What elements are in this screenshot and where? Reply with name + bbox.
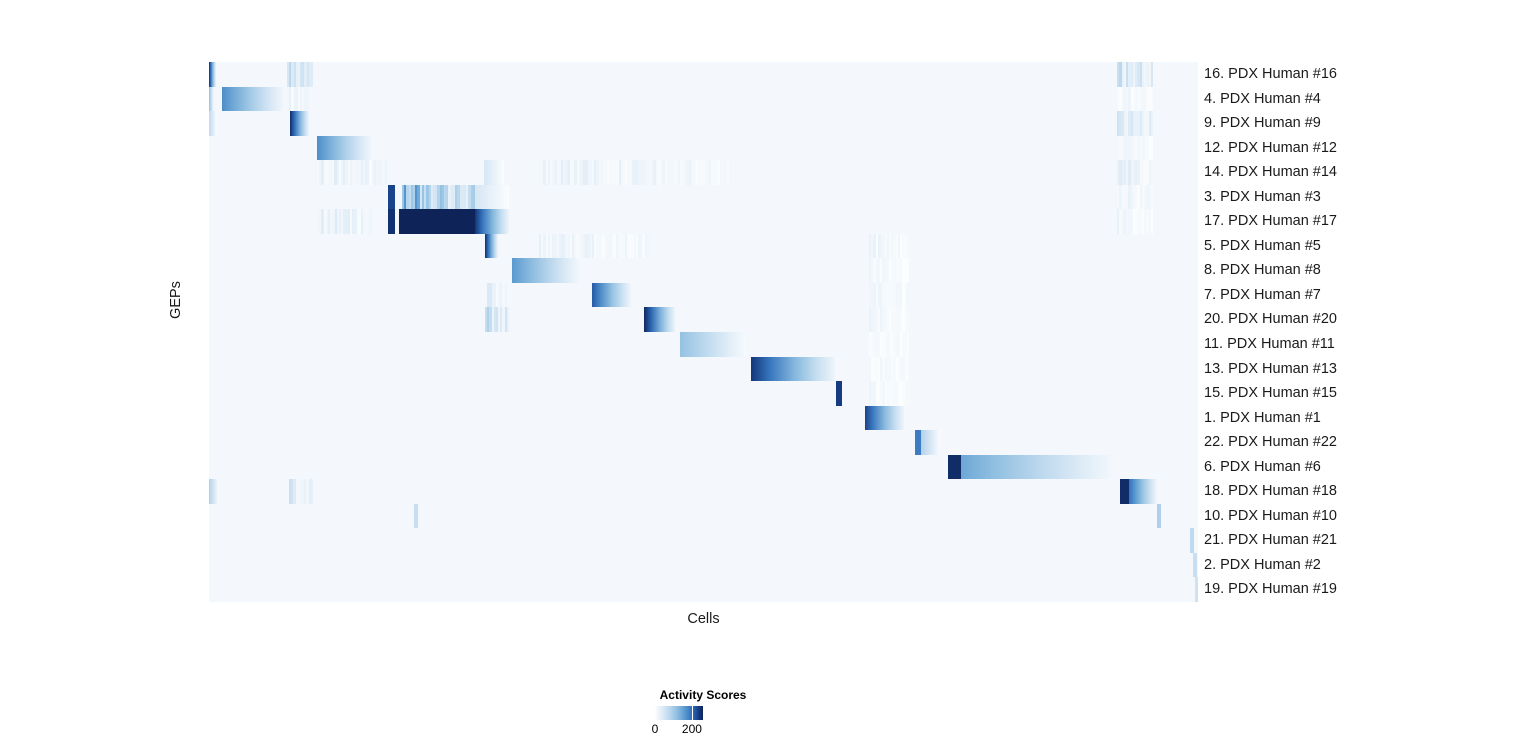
heatmap-cell (1151, 136, 1154, 161)
row-label: 8. PDX Human #8 (1204, 258, 1321, 283)
row-label: 14. PDX Human #14 (1204, 160, 1337, 185)
heatmap-cell (507, 307, 510, 332)
heatmap-row (209, 528, 1198, 553)
heatmap-row (209, 234, 1198, 259)
row-label: 15. PDX Human #15 (1204, 381, 1337, 406)
heatmap-cell (311, 479, 314, 504)
heatmap-row (209, 406, 1198, 431)
row-label: 16. PDX Human #16 (1204, 62, 1337, 87)
heatmap-cell (317, 136, 372, 161)
heatmap-row (209, 160, 1198, 185)
heatmap-row (209, 111, 1198, 136)
heatmap-cell (907, 307, 910, 332)
heatmap-cell (311, 62, 314, 87)
heatmap-cell (388, 209, 395, 234)
heatmap-row (209, 455, 1198, 480)
heatmap-cell (1151, 160, 1154, 185)
heatmap-cell (907, 357, 910, 382)
row-label: 4. PDX Human #4 (1204, 87, 1321, 112)
heatmap-row (209, 307, 1198, 332)
heatmap-row (209, 479, 1198, 504)
colorbar-tick (692, 706, 694, 720)
heatmap-cell (370, 209, 373, 234)
heatmap-cell (907, 332, 910, 357)
heatmap-row (209, 357, 1198, 382)
heatmap-cell (399, 209, 475, 234)
heatmap-row (209, 553, 1198, 578)
heatmap-cell (388, 185, 395, 210)
heatmap-row (209, 381, 1198, 406)
row-label: 20. PDX Human #20 (1204, 307, 1337, 332)
heatmap-cell (907, 234, 910, 259)
heatmap-cell (1151, 209, 1154, 234)
heatmap-cell (751, 357, 835, 382)
row-label: 19. PDX Human #19 (1204, 577, 1337, 602)
heatmap-cell (475, 209, 509, 234)
heatmap-cell (1129, 479, 1157, 504)
heatmap-cell (1151, 62, 1154, 87)
colorbar-tick-label: 200 (682, 722, 702, 736)
heatmap-cell (1157, 504, 1161, 529)
heatmap-cell (1193, 553, 1197, 578)
heatmap-cell (647, 234, 650, 259)
row-label: 11. PDX Human #11 (1204, 332, 1335, 357)
heatmap-cell (907, 283, 910, 308)
heatmap-cell (1195, 577, 1198, 602)
heatmap-cell (1120, 479, 1129, 504)
row-label: 12. PDX Human #12 (1204, 136, 1337, 161)
heatmap-cell (1151, 87, 1154, 112)
heatmap-row (209, 504, 1198, 529)
heatmap-cell (727, 160, 730, 185)
heatmap-cell (290, 111, 309, 136)
row-label: 13. PDX Human #13 (1204, 357, 1337, 382)
heatmap-row (209, 332, 1198, 357)
heatmap-row (209, 283, 1198, 308)
heatmap-row (209, 62, 1198, 87)
heatmap-cell (209, 62, 216, 87)
heatmap-cell (222, 87, 284, 112)
heatmap-row (209, 87, 1198, 112)
row-label: 18. PDX Human #18 (1204, 479, 1337, 504)
colorbar-gradient (655, 706, 703, 720)
heatmap-cell (680, 332, 746, 357)
heatmap-cell (907, 258, 910, 283)
row-label: 5. PDX Human #5 (1204, 234, 1321, 259)
heatmap-cell (865, 406, 904, 431)
heatmap-cell (475, 185, 509, 210)
x-axis-label: Cells (209, 611, 1198, 627)
heatmap-row (209, 577, 1198, 602)
heatmap-cell (512, 258, 580, 283)
heatmap-cell (1190, 528, 1194, 553)
heatmap-plot-area (209, 62, 1198, 602)
row-label: 1. PDX Human #1 (1204, 406, 1321, 431)
heatmap-cell (311, 87, 314, 112)
heatmap-cell (507, 283, 510, 308)
heatmap-cell (1151, 111, 1154, 136)
heatmap-cell (209, 479, 219, 504)
heatmap-cell (836, 381, 842, 406)
heatmap-row (209, 209, 1198, 234)
row-label: 6. PDX Human #6 (1204, 455, 1321, 480)
heatmap-cell (1151, 185, 1154, 210)
row-label: 3. PDX Human #3 (1204, 185, 1321, 210)
heatmap-cell (414, 504, 418, 529)
heatmap-cell (907, 381, 910, 406)
row-label: 9. PDX Human #9 (1204, 111, 1321, 136)
y-axis-label: GEPs (168, 281, 184, 319)
heatmap-row (209, 136, 1198, 161)
heatmap-cell (961, 455, 1115, 480)
heatmap-cell (484, 160, 504, 185)
colorbar-tick-label: 0 (652, 722, 659, 736)
heatmap-row (209, 185, 1198, 210)
heatmap-row (209, 430, 1198, 455)
row-label: 21. PDX Human #21 (1204, 528, 1337, 553)
colorbar-title: Activity Scores (660, 688, 747, 702)
heatmap-cell (592, 283, 631, 308)
row-label: 2. PDX Human #2 (1204, 553, 1321, 578)
heatmap-cell (644, 307, 675, 332)
row-label: 22. PDX Human #22 (1204, 430, 1337, 455)
row-label: 17. PDX Human #17 (1204, 209, 1337, 234)
row-label: 7. PDX Human #7 (1204, 283, 1321, 308)
heatmap-cell (209, 87, 214, 112)
heatmap-figure: GEPs Cells 16. PDX Human #164. PDX Human… (0, 0, 1540, 743)
heatmap-cell (921, 430, 940, 455)
heatmap-row (209, 258, 1198, 283)
heatmap-cell (387, 160, 390, 185)
heatmap-cell (209, 111, 217, 136)
heatmap-cell (948, 455, 961, 480)
row-label: 10. PDX Human #10 (1204, 504, 1337, 529)
row-label-list: 16. PDX Human #164. PDX Human #49. PDX H… (1204, 62, 1524, 602)
heatmap-cell (485, 234, 498, 259)
